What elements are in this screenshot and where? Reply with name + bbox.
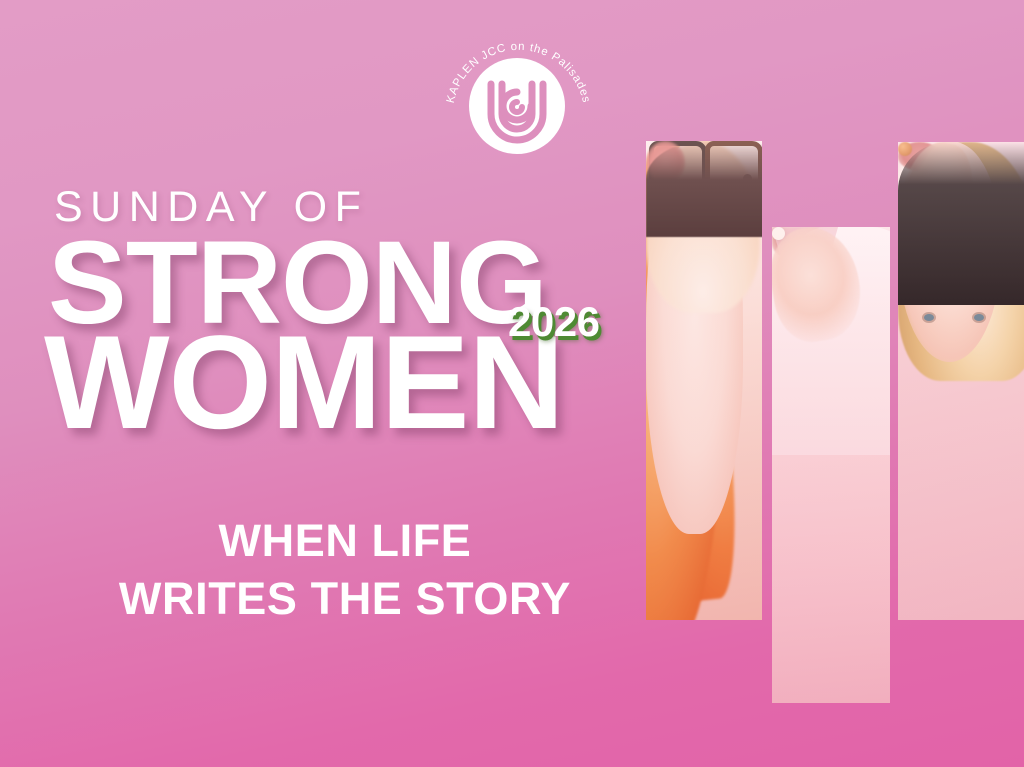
portrait-3-black-top [898,142,1024,305]
jcc-logo[interactable]: KAPLEN JCC on the Palisades [441,28,596,150]
subtitle-line-1: WHEN LIFE [40,512,650,570]
jcc-spiral-emblem-icon [469,58,565,154]
event-year: 2026 [508,298,599,346]
portrait-3-eye-right [974,314,984,321]
portrait-panel-2 [772,227,890,703]
portrait-3-necklace [898,142,912,156]
portrait-panel-1 [646,141,762,620]
event-subtitle: WHEN LIFE WRITES THE STORY [40,512,650,627]
subtitle-line-2: WRITES THE STORY [40,570,650,628]
portrait-2-ring [772,227,785,240]
portrait-1-shoulder [646,141,762,237]
portrait-panel-3 [898,142,1024,620]
poster-canvas: KAPLEN JCC on the Palisades SUNDAY OF ST… [0,0,1024,767]
